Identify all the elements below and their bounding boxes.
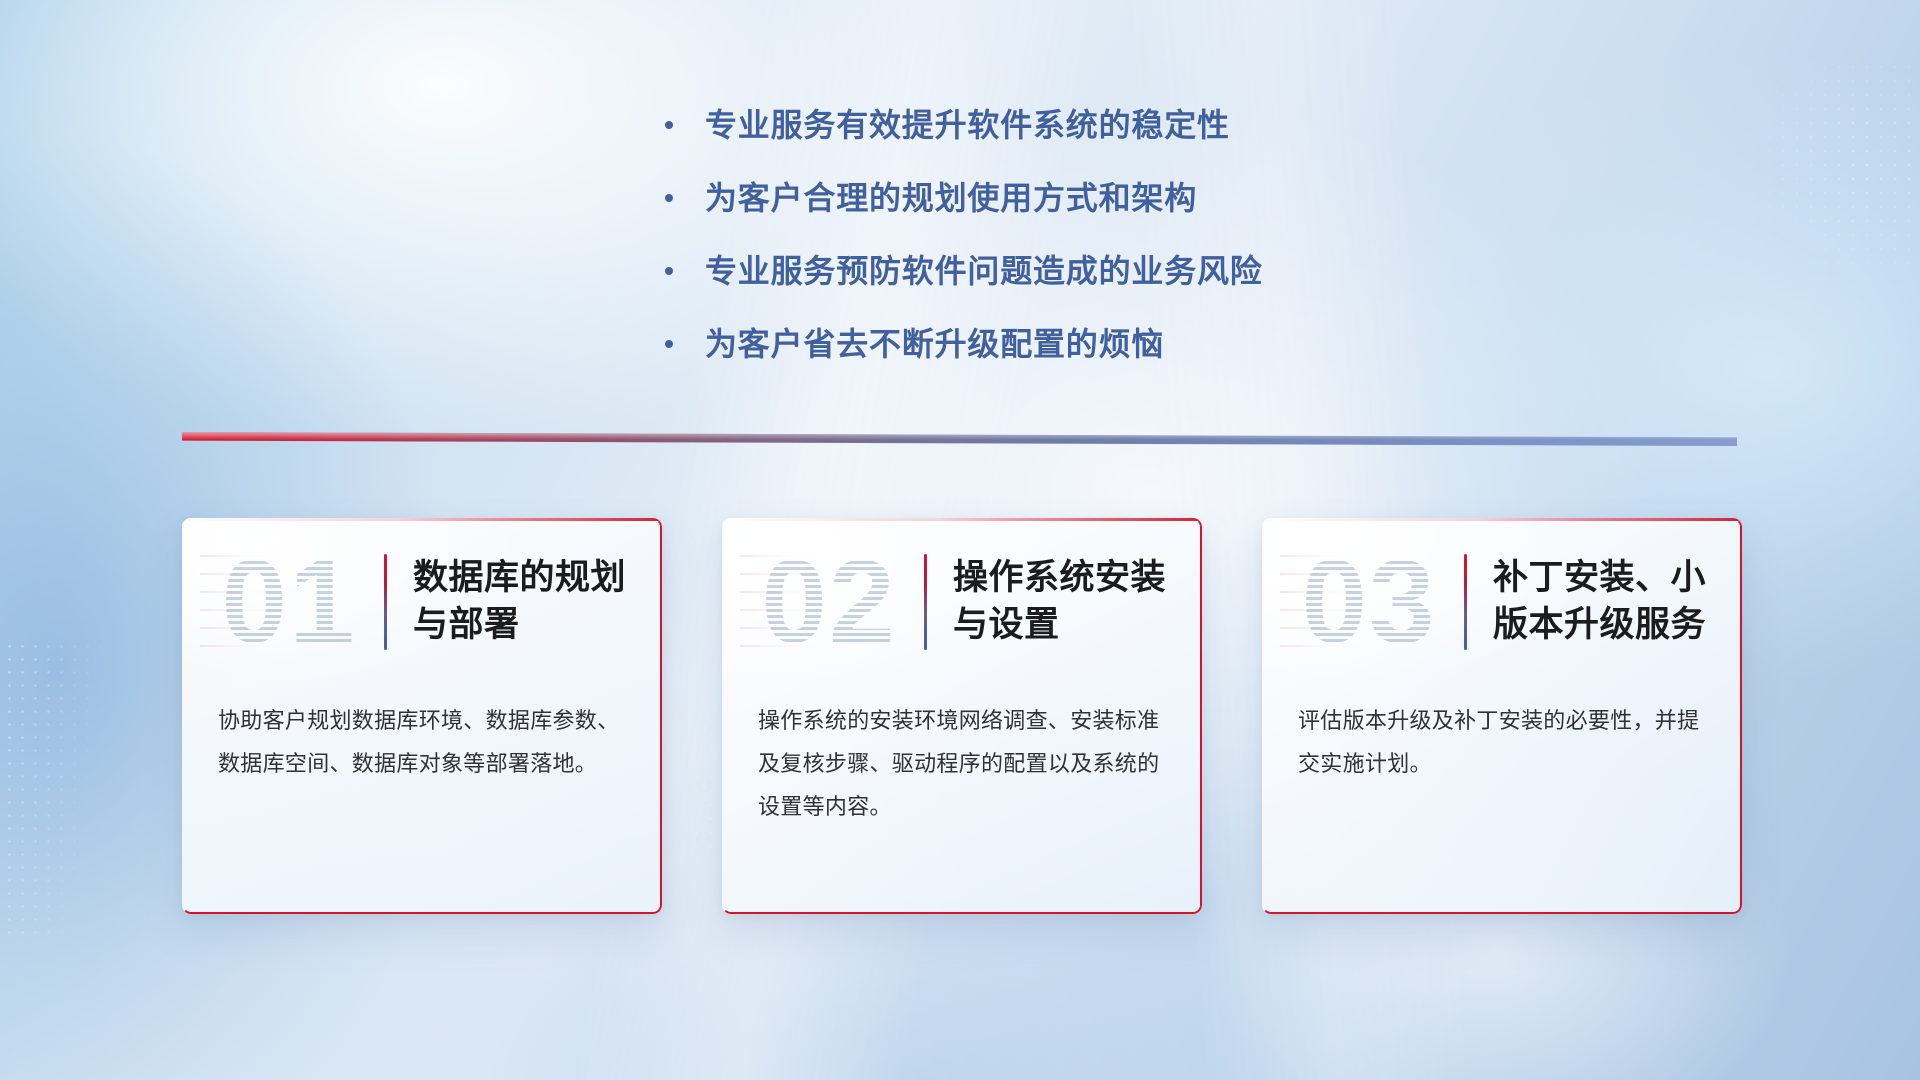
card-ghost-number: 01 bbox=[200, 543, 378, 661]
benefits-bullet-list: 专业服务有效提升软件系统的稳定性 为客户合理的规划使用方式和架构 专业服务预防软… bbox=[665, 105, 1665, 397]
card-ghost-number: 02 bbox=[740, 543, 918, 661]
dot-texture-left bbox=[0, 640, 110, 940]
service-card-row: 01 数据库的规划与部署 协助客户规划数据库环境、数据库参数、数据库空间、数据库… bbox=[182, 518, 1742, 914]
card-accent-bar bbox=[384, 554, 387, 650]
card-body-text: 评估版本升级及补丁安装的必要性，并提交实施计划。 bbox=[1262, 686, 1742, 786]
list-item: 为客户合理的规划使用方式和架构 bbox=[665, 178, 1665, 218]
card-title: 数据库的规划与部署 bbox=[413, 555, 662, 649]
bullet-text: 为客户省去不断升级配置的烦恼 bbox=[705, 324, 1665, 364]
bullet-text: 专业服务预防软件问题造成的业务风险 bbox=[705, 251, 1665, 291]
bullet-dot-icon bbox=[665, 194, 673, 202]
card-title: 补丁安装、小版本升级服务 bbox=[1493, 555, 1742, 649]
list-item: 为客户省去不断升级配置的烦恼 bbox=[665, 324, 1665, 364]
service-card-02[interactable]: 02 操作系统安装与设置 操作系统的安装环境网络调查、安装标准及复核步骤、驱动程… bbox=[722, 518, 1202, 914]
card-body-text: 协助客户规划数据库环境、数据库参数、数据库空间、数据库对象等部署落地。 bbox=[182, 686, 662, 786]
bullet-dot-icon bbox=[665, 121, 673, 129]
list-item: 专业服务有效提升软件系统的稳定性 bbox=[665, 105, 1665, 145]
card-ghost-number: 03 bbox=[1280, 543, 1458, 661]
card-body-text: 操作系统的安装环境网络调查、安装标准及复核步骤、驱动程序的配置以及系统的设置等内… bbox=[722, 686, 1202, 829]
card-header: 01 数据库的规划与部署 bbox=[182, 518, 662, 686]
service-card-03[interactable]: 03 补丁安装、小版本升级服务 评估版本升级及补丁安装的必要性，并提交实施计划。 bbox=[1262, 518, 1742, 914]
bullet-dot-icon bbox=[665, 340, 673, 348]
dot-texture-right bbox=[1720, 60, 1920, 320]
section-divider bbox=[182, 432, 1737, 446]
list-item: 专业服务预防软件问题造成的业务风险 bbox=[665, 251, 1665, 291]
bullet-text: 为客户合理的规划使用方式和架构 bbox=[705, 178, 1665, 218]
card-accent-bar bbox=[924, 554, 927, 650]
bullet-text: 专业服务有效提升软件系统的稳定性 bbox=[705, 105, 1665, 145]
card-accent-bar bbox=[1464, 554, 1467, 650]
divider-gloss bbox=[182, 432, 1737, 446]
card-header: 02 操作系统安装与设置 bbox=[722, 518, 1202, 686]
bullet-dot-icon bbox=[665, 267, 673, 275]
card-header: 03 补丁安装、小版本升级服务 bbox=[1262, 518, 1742, 686]
service-card-01[interactable]: 01 数据库的规划与部署 协助客户规划数据库环境、数据库参数、数据库空间、数据库… bbox=[182, 518, 662, 914]
card-title: 操作系统安装与设置 bbox=[953, 555, 1202, 649]
